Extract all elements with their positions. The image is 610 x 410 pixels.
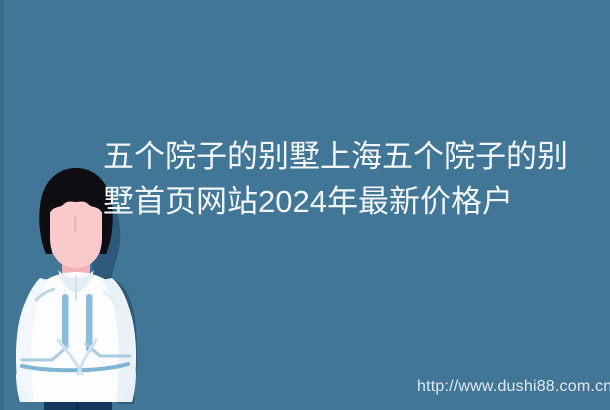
watermark-url: http://www.dushi88.com.cn <box>417 377 610 397</box>
page-title: 五个院子的别墅上海五个院子的别墅首页网站2024年最新价格户 <box>103 134 595 224</box>
image-canvas: 五个院子的别墅上海五个院子的别墅首页网站2024年最新价格户 http://ww… <box>0 0 610 410</box>
nose <box>74 216 77 232</box>
drawstring-left <box>62 294 69 346</box>
